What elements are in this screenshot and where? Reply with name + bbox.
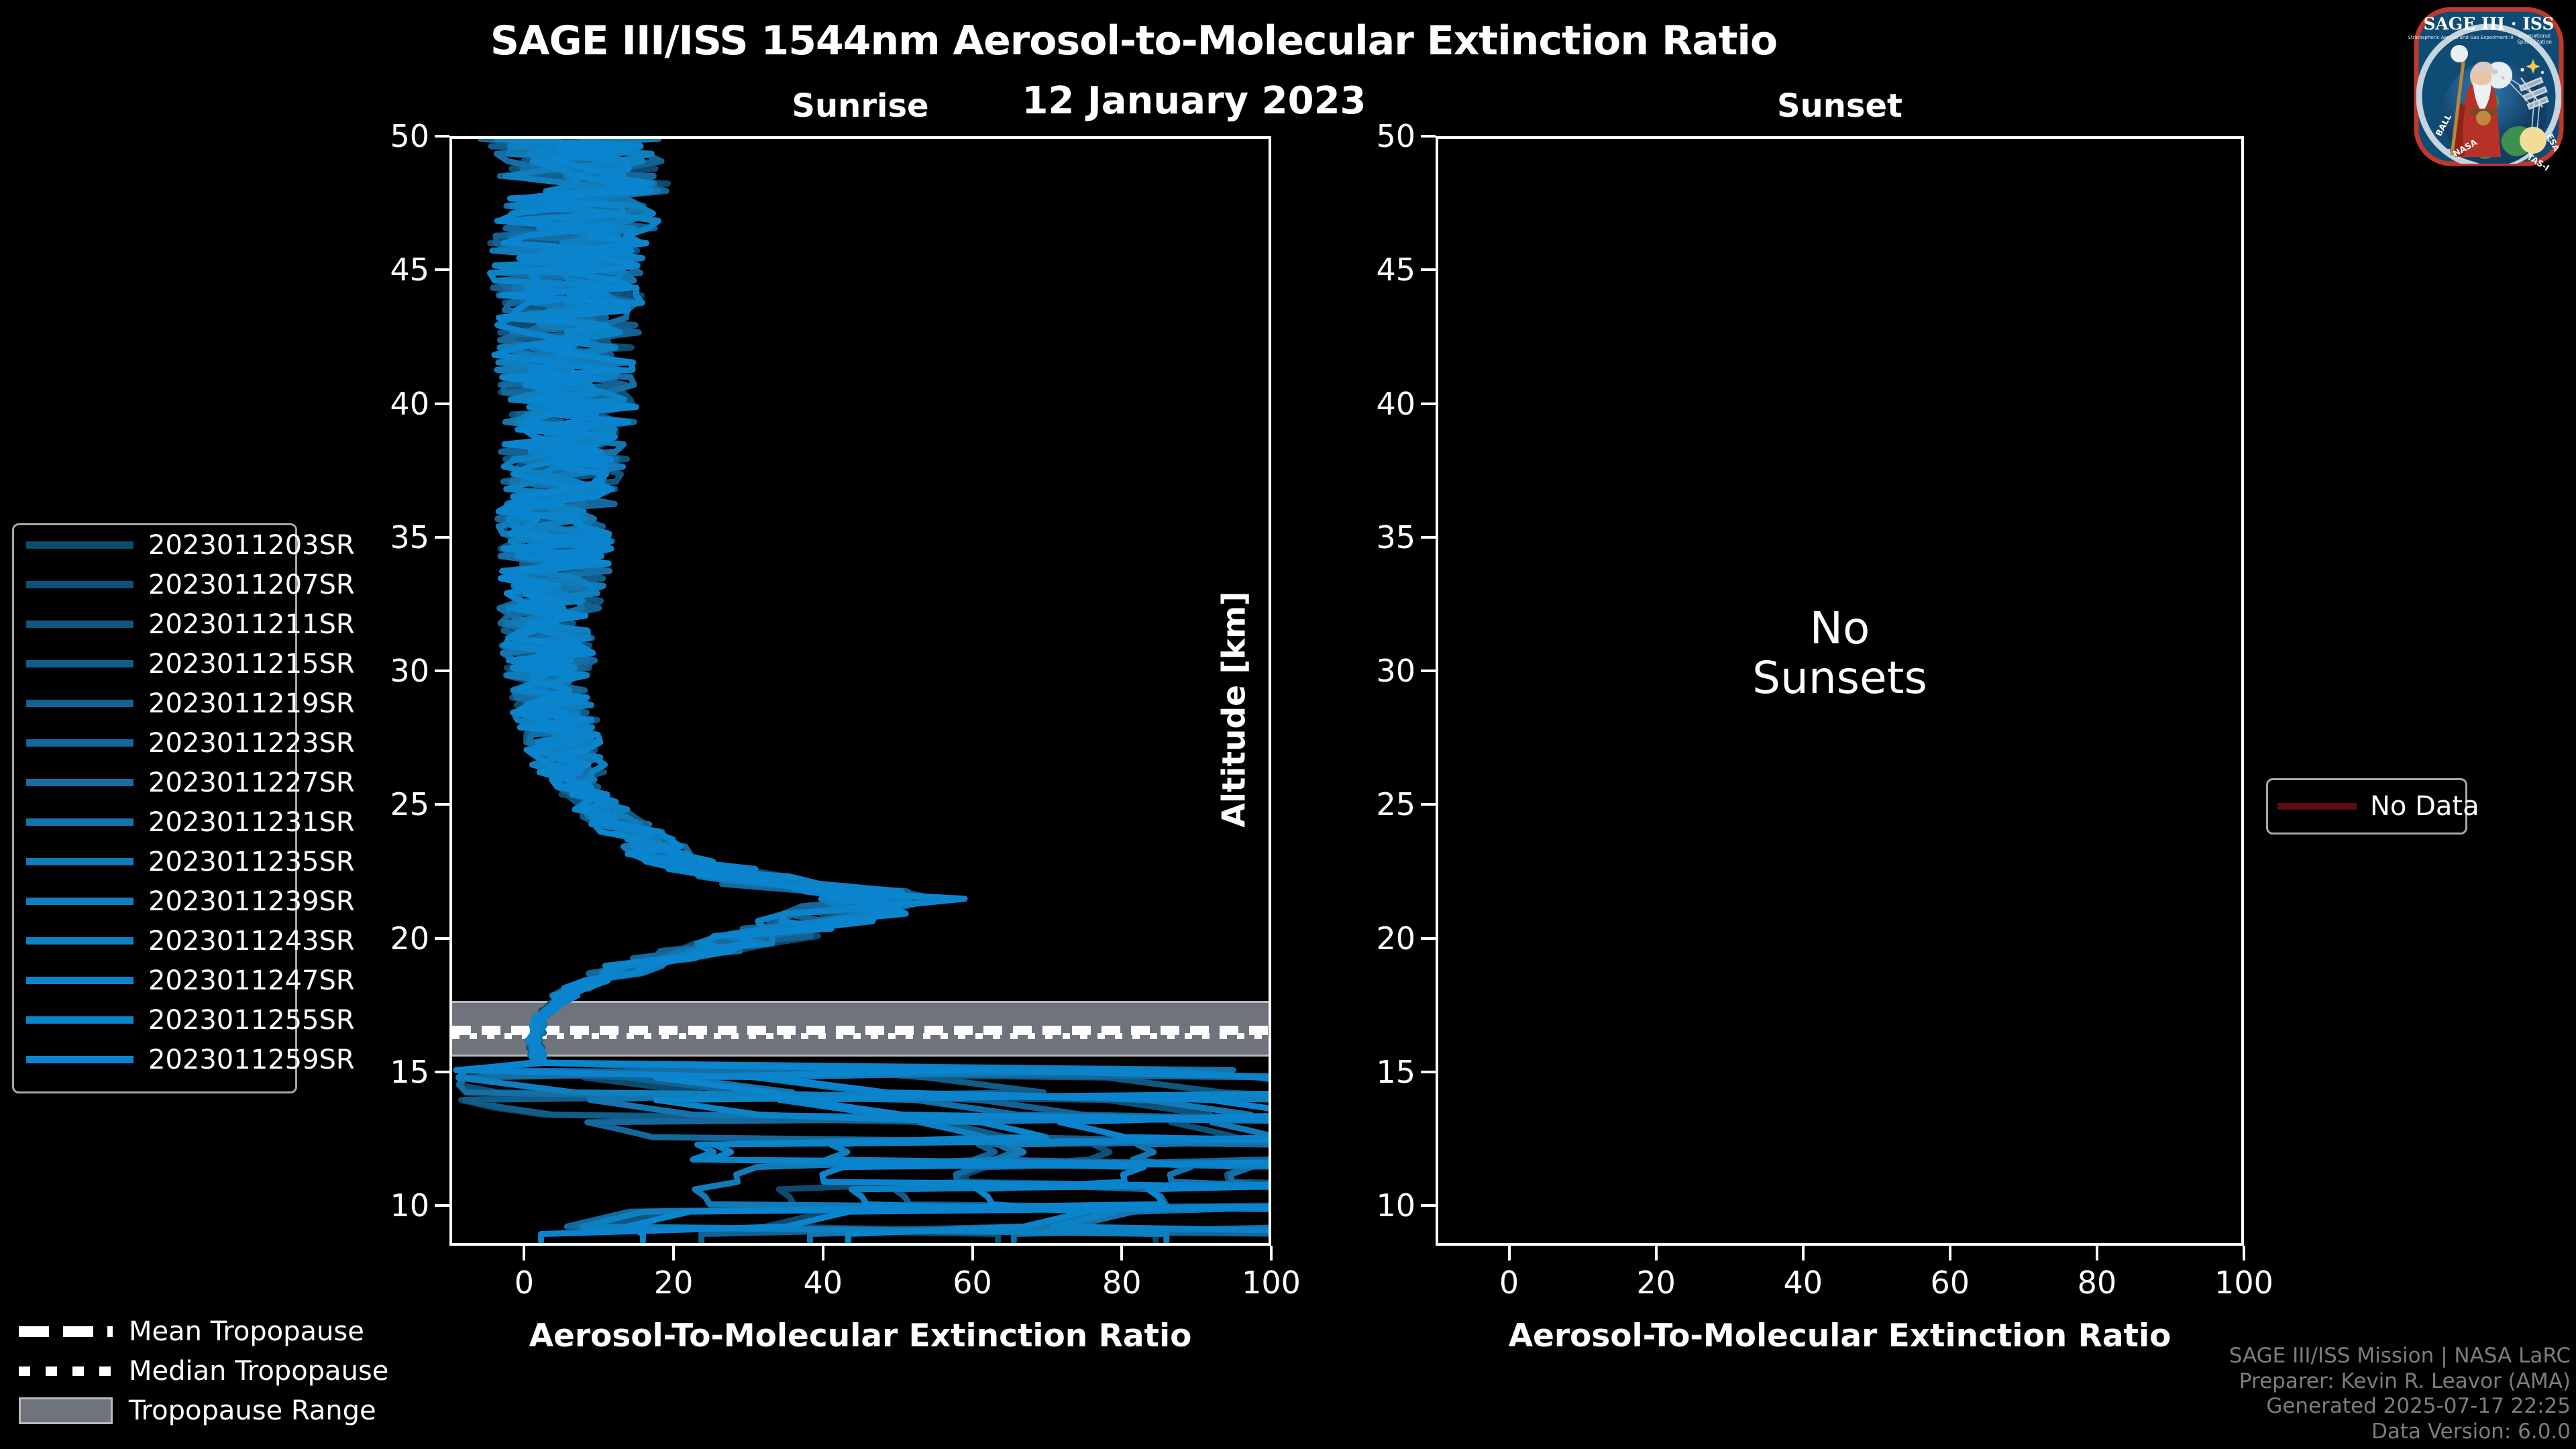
x-tick-mark — [523, 1246, 525, 1260]
legend-item-profile[interactable]: 2023011227SR — [14, 763, 295, 802]
x-tick-label: 40 — [1750, 1265, 1857, 1301]
logo-title-text: SAGE III · ISS — [2423, 14, 2554, 34]
y-tick-mark — [435, 135, 449, 138]
y-tick-label: 50 — [315, 118, 429, 154]
profile-line-swatch — [26, 898, 133, 905]
credits-block: SAGE III/ISS Mission | NASA LaRC Prepare… — [2229, 1344, 2571, 1445]
sage-iii-iss-logo: SAGE III · ISS Stratospheric Aerosol and… — [2408, 3, 2569, 170]
y-tick-label: 20 — [1301, 920, 1415, 957]
y-tick-mark — [435, 1071, 449, 1073]
profile-line-swatch — [26, 858, 133, 865]
legend-item-profile[interactable]: 2023011207SR — [14, 565, 295, 604]
legend-item-profile[interactable]: 2023011235SR — [14, 842, 295, 881]
x-tick-mark — [672, 1246, 675, 1260]
y-tick-mark — [435, 268, 449, 271]
profile-line-swatch — [26, 739, 133, 747]
x-tick-mark — [1655, 1246, 1658, 1260]
profile-line-swatch — [26, 818, 133, 826]
profile-line-swatch — [26, 660, 133, 667]
profile-label: 2023011247SR — [148, 965, 355, 996]
y-tick-label: 10 — [1301, 1187, 1415, 1224]
profile-line-swatch — [26, 621, 133, 628]
profile-line-swatch — [26, 937, 133, 945]
y-tick-label: 40 — [1301, 386, 1415, 422]
y-tick-label: 45 — [315, 252, 429, 288]
x-tick-label: 40 — [769, 1265, 877, 1301]
legend-item-profile[interactable]: 2023011243SR — [14, 921, 295, 961]
y-tick-mark — [435, 937, 449, 940]
no-sunsets-line2: Sunsets — [1436, 653, 2244, 703]
profile-line-swatch — [26, 581, 133, 588]
credit-line-2: Preparer: Kevin R. Leavor (AMA) — [2229, 1369, 2571, 1395]
legend-item-profile[interactable]: 2023011219SR — [14, 684, 295, 723]
left-x-axis-title: Aerosol-To-Molecular Extinction Ratio — [449, 1318, 1271, 1354]
x-tick-mark — [822, 1246, 824, 1260]
profile-label: 2023011215SR — [148, 649, 355, 680]
profile-label: 2023011219SR — [148, 688, 355, 719]
y-tick-mark — [435, 669, 449, 672]
legend-item-profile[interactable]: 2023011203SR — [14, 525, 295, 565]
tropopause-legend[interactable]: Mean Tropopause Median Tropopause Tropop… — [13, 1311, 429, 1430]
legend-item-profile[interactable]: 2023011255SR — [14, 1000, 295, 1040]
legend-item-median-tropopause[interactable]: Median Tropopause — [13, 1351, 429, 1391]
no-data-label: No Data — [2370, 791, 2479, 822]
profile-legend[interactable]: 2023011203SR2023011207SR2023011211SR2023… — [12, 523, 297, 1093]
profile-line-swatch — [26, 1056, 133, 1063]
profile-label: 2023011203SR — [148, 530, 355, 561]
no-sunsets-message: No Sunsets — [1436, 604, 2244, 703]
profile-label: 2023011223SR — [148, 728, 355, 759]
x-tick-label: 60 — [1896, 1265, 2004, 1301]
credit-line-1: SAGE III/ISS Mission | NASA LaRC — [2229, 1344, 2571, 1369]
x-tick-label: 100 — [1218, 1265, 1325, 1301]
y-tick-mark — [1421, 536, 1436, 539]
profile-line-swatch — [26, 779, 133, 786]
svg-text:Stratospheric Aerosol and Gas: Stratospheric Aerosol and Gas Experiment… — [2408, 35, 2514, 40]
y-tick-mark — [1421, 135, 1436, 138]
y-tick-mark — [1421, 803, 1436, 806]
legend-item-profile[interactable]: 2023011247SR — [14, 961, 295, 1000]
profile-label: 2023011211SR — [148, 609, 355, 640]
credit-line-4: Data Version: 6.0.0 — [2229, 1419, 2571, 1445]
legend-item-profile[interactable]: 2023011259SR — [14, 1040, 295, 1079]
sunrise-plot-panel[interactable] — [449, 136, 1271, 1246]
profile-label: 2023011239SR — [148, 886, 355, 917]
legend-item-profile[interactable]: 2023011239SR — [14, 881, 295, 921]
svg-text:Space Station: Space Station — [2517, 39, 2552, 45]
profile-label: 2023011231SR — [148, 807, 355, 838]
sunrise-profile-curves — [452, 139, 1269, 1243]
profile-label: 2023011207SR — [148, 570, 355, 600]
legend-item-profile[interactable]: 2023011211SR — [14, 604, 295, 644]
svg-text:International: International — [2518, 33, 2551, 39]
right-y-axis-title: Altitude [km] — [1216, 576, 1253, 844]
x-tick-label: 0 — [1456, 1265, 1563, 1301]
legend-item-tropopause-range[interactable]: Tropopause Range — [13, 1391, 429, 1430]
x-tick-mark — [2096, 1246, 2098, 1260]
legend-item-profile[interactable]: 2023011231SR — [14, 802, 295, 842]
profile-line-swatch — [26, 977, 133, 984]
y-tick-label: 40 — [315, 386, 429, 422]
x-tick-label: 0 — [470, 1265, 578, 1301]
mean-tropopause-label: Mean Tropopause — [129, 1316, 364, 1347]
y-tick-label: 35 — [1301, 519, 1415, 555]
y-tick-mark — [1421, 669, 1436, 672]
x-tick-label: 80 — [2043, 1265, 2151, 1301]
y-tick-label: 15 — [1301, 1054, 1415, 1090]
profile-label: 2023011255SR — [148, 1005, 355, 1036]
y-tick-label: 25 — [1301, 786, 1415, 822]
y-tick-mark — [435, 536, 449, 539]
x-tick-mark — [1949, 1246, 1951, 1260]
legend-item-profile[interactable]: 2023011223SR — [14, 723, 295, 763]
y-tick-label: 50 — [1301, 118, 1415, 154]
profile-label: 2023011243SR — [148, 926, 355, 957]
x-tick-mark — [1508, 1246, 1511, 1260]
y-tick-mark — [435, 1204, 449, 1207]
right-panel-title: Sunset — [1436, 87, 2244, 125]
y-tick-mark — [1421, 1204, 1436, 1207]
legend-item-no-data[interactable]: No Data — [2268, 780, 2465, 833]
profile-line-swatch — [26, 541, 133, 549]
x-tick-label: 80 — [1068, 1265, 1175, 1301]
right-x-axis-title: Aerosol-To-Molecular Extinction Ratio — [1436, 1318, 2244, 1354]
no-sunsets-line1: No — [1436, 604, 2244, 653]
credit-line-3: Generated 2025-07-17 22:25 — [2229, 1394, 2571, 1419]
y-tick-mark — [1421, 1071, 1436, 1073]
median-tropopause-label: Median Tropopause — [129, 1356, 388, 1387]
y-tick-mark — [1421, 402, 1436, 405]
y-tick-label: 45 — [1301, 252, 1415, 288]
no-data-legend[interactable]: No Data — [2266, 778, 2467, 835]
y-tick-mark — [1421, 937, 1436, 940]
left-panel-title: Sunrise — [449, 87, 1271, 125]
legend-item-mean-tropopause[interactable]: Mean Tropopause — [13, 1311, 429, 1351]
y-tick-mark — [435, 402, 449, 405]
no-data-line-swatch — [2277, 803, 2357, 810]
profile-label: 2023011227SR — [148, 767, 355, 798]
y-tick-mark — [1421, 268, 1436, 271]
x-tick-mark — [1802, 1246, 1805, 1260]
x-tick-mark — [2243, 1246, 2245, 1260]
y-tick-mark — [435, 803, 449, 806]
y-tick-label: 10 — [315, 1187, 429, 1224]
x-tick-label: 100 — [2190, 1265, 2298, 1301]
x-tick-label: 20 — [1603, 1265, 1710, 1301]
page-title: SAGE III/ISS 1544nm Aerosol-to-Molecular… — [0, 17, 2267, 64]
tropopause-range-label: Tropopause Range — [129, 1395, 376, 1426]
legend-item-profile[interactable]: 2023011215SR — [14, 644, 295, 684]
x-tick-mark — [971, 1246, 974, 1260]
profile-line-swatch — [26, 700, 133, 707]
x-tick-label: 20 — [620, 1265, 727, 1301]
x-tick-mark — [1270, 1246, 1273, 1260]
x-tick-mark — [1120, 1246, 1123, 1260]
x-tick-label: 60 — [919, 1265, 1026, 1301]
profile-label: 2023011235SR — [148, 847, 355, 877]
profile-label: 2023011259SR — [148, 1044, 355, 1075]
y-tick-label: 30 — [1301, 653, 1415, 689]
profile-line-swatch — [26, 1016, 133, 1024]
